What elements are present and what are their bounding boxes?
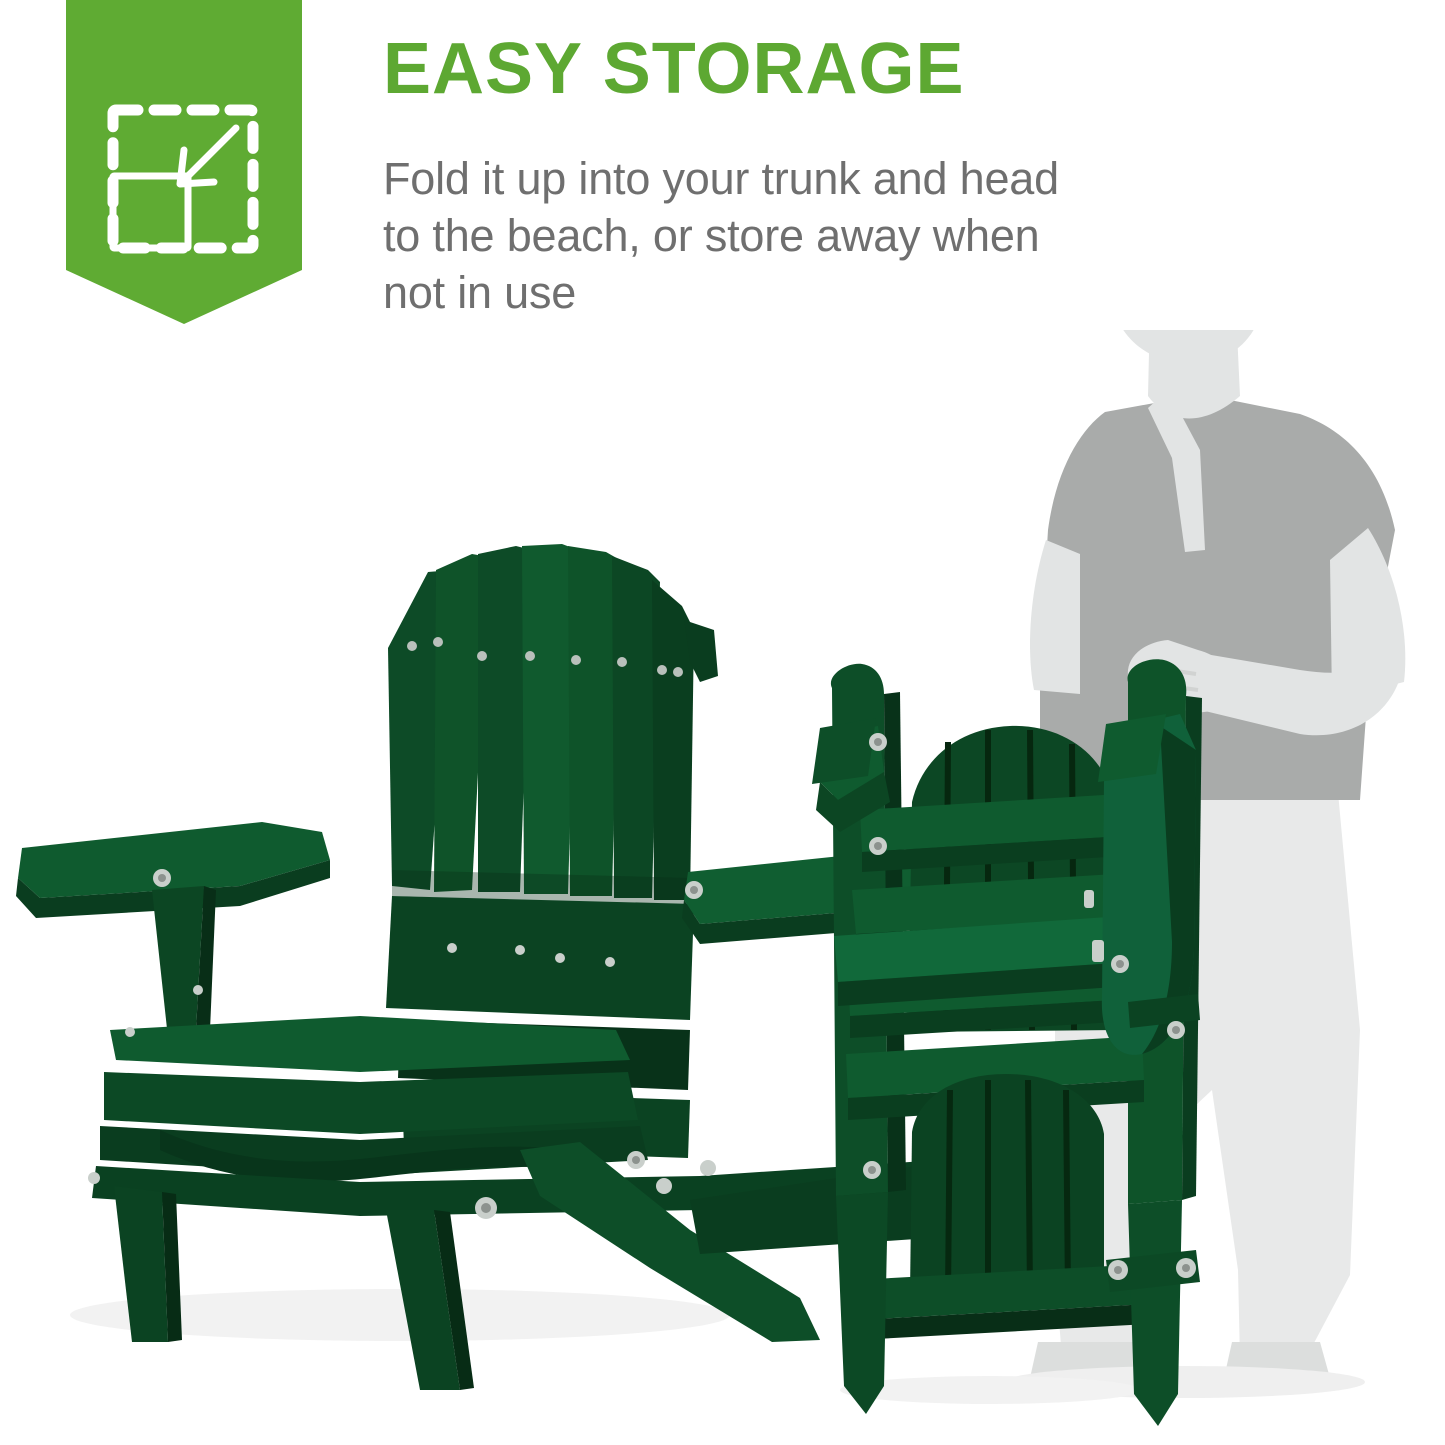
page-subtitle: Fold it up into your trunk and head to t… bbox=[383, 150, 1083, 321]
folded-right-foot bbox=[1128, 1200, 1182, 1426]
folded-adirondack-chair bbox=[812, 659, 1202, 1426]
person-shirt-sleeve-left bbox=[1030, 540, 1080, 694]
chair-left-arm-post bbox=[152, 886, 204, 1038]
person-head bbox=[1105, 330, 1273, 364]
folded-support-wedge-left bbox=[812, 718, 876, 784]
feature-banner-ribbon bbox=[66, 0, 302, 324]
marketing-image-canvas: EASY STORAGE Fold it up into your trunk … bbox=[0, 0, 1445, 1445]
folded-left-foot bbox=[836, 1192, 888, 1414]
folded-lower-fan bbox=[910, 1074, 1104, 1294]
product-artwork bbox=[0, 330, 1445, 1445]
folded-chair-shadow bbox=[840, 1376, 1140, 1404]
chair-back-slats bbox=[388, 544, 694, 900]
folded-support-wedge bbox=[1098, 714, 1166, 782]
page-title: EASY STORAGE bbox=[383, 33, 965, 105]
